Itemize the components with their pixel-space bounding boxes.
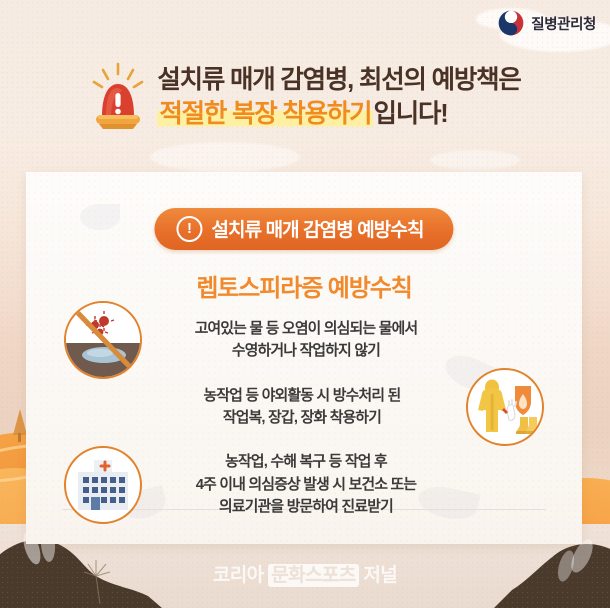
rule-text-line: 고여있는 물 등 오염이 의심되는 물에서 [150,318,462,340]
rule-item: 농작업, 수해 복구 등 작업 후 4주 이내 의심증상 발생 시 보건소 또는… [26,440,582,530]
headline-line-2: 적절한 복장 착용하기입니다! [157,98,520,131]
protective-clothing-icon [466,368,544,446]
rule-item: 고여있는 물 등 오염이 의심되는 물에서 수영하거나 작업하지 않기 [26,306,582,374]
footer-watermark: 코리아 문화스포츠 저널 [0,560,610,587]
tree-trunk-shape [18,433,21,442]
prevention-card: ! 설치류 매개 감염병 예방수칙 렙토스피라증 예방수칙 [26,172,582,544]
siren-alarm-icon [89,60,147,132]
icon-spacer [64,370,138,444]
rule-text-line: 수영하거나 작업하지 않기 [150,340,462,362]
contaminated-water-prohibited-icon [64,301,142,379]
hospital-building-icon [64,446,142,524]
watermark-prefix: 코리아 [213,565,268,586]
rule-text: 농작업 등 야외활동 시 방수처리 된 작업복, 장갑, 장화 착용하기 [138,385,466,430]
watermark-suffix: 저널 [359,565,397,586]
cloud-shape [430,150,520,170]
ghost-leaf-decoration [80,204,120,230]
cloud-shape [150,142,300,172]
section-title: 렙토스피라증 예방수칙 [26,268,582,303]
section-banner: ! 설치류 매개 감염병 예방수칙 [154,208,453,250]
rule-text: 고여있는 물 등 오염이 의심되는 물에서 수영하거나 작업하지 않기 [142,318,470,363]
prevention-rule-list: 고여있는 물 등 오염이 의심되는 물에서 수영하거나 작업하지 않기 농작업 … [26,306,582,530]
rule-text-line: 농작업, 수해 복구 등 작업 후 [150,451,462,473]
tree-icon [13,409,27,435]
headline-line-1: 설치류 매개 감염병, 최선의 예방책은 [157,64,520,97]
rule-text-line: 농작업 등 야외활동 시 방수처리 된 [146,385,458,407]
rule-text-line: 4주 이내 의심증상 발생 시 보건소 또는 [150,474,462,496]
icon-spacer [470,303,544,377]
rule-text-line: 의료기관을 방문하여 진료받기 [150,496,462,518]
section-banner-label: 설치류 매개 감염병 예방수칙 [211,215,423,242]
watermark-boxed: 문화스포츠 [268,564,358,587]
taegeuk-icon [498,10,524,36]
headline-highlight: 적절한 복장 착용하기 [157,100,373,128]
icon-spacer [470,448,544,522]
exclamation-circle-icon: ! [176,216,202,242]
headline-block: 설치류 매개 감염병, 최선의 예방책은 적절한 복장 착용하기입니다! [0,62,610,132]
rule-text: 농작업, 수해 복구 등 작업 후 4주 이내 의심증상 발생 시 보건소 또는… [142,451,470,518]
rule-text-line: 작업복, 장갑, 장화 착용하기 [146,407,458,429]
agency-name: 질병관리청 [531,13,596,34]
agency-logo: 질병관리청 [498,10,596,36]
infographic-canvas: 질병관리청 설치류 매개 감염병, 최선 [0,0,610,608]
headline-tail: 입니다! [373,100,447,128]
rule-item: 농작업 등 야외활동 시 방수처리 된 작업복, 장갑, 장화 착용하기 [26,374,582,440]
